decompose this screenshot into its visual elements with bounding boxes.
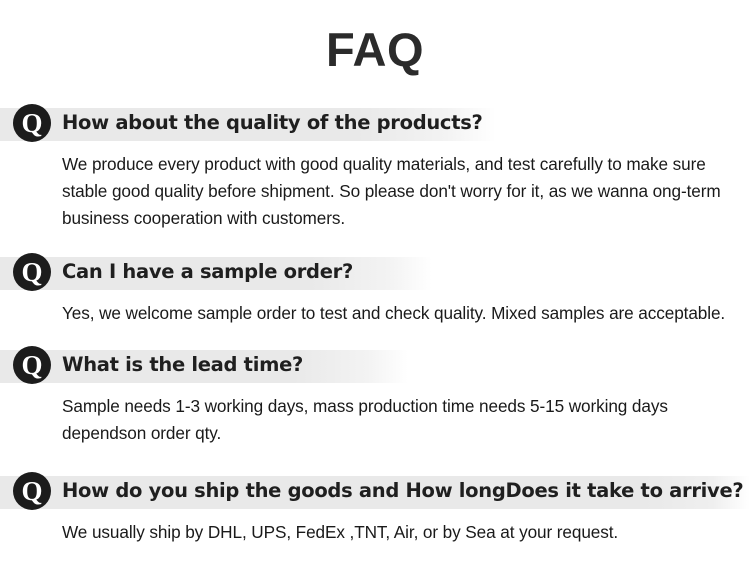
question-label-3: What is the lead time?	[62, 352, 744, 378]
faq-item-3: Q What is the lead time? Sample needs 1-…	[0, 345, 750, 447]
faq-item-2: Q Can I have a sample order? Yes, we wel…	[0, 252, 750, 327]
question-row-3[interactable]: Q What is the lead time?	[0, 345, 750, 383]
question-row-1[interactable]: Q How about the quality of the products?	[0, 103, 750, 141]
question-badge-icon-4: Q	[13, 472, 51, 510]
question-badge-icon-1: Q	[13, 104, 51, 142]
question-label-4: How do you ship the goods and How longDo…	[62, 478, 744, 504]
faq-item-1: Q How about the quality of the products?…	[0, 103, 750, 232]
answer-text-4: We usually ship by DHL, UPS, FedEx ,TNT,…	[0, 509, 750, 546]
answer-text-3: Sample needs 1-3 working days, mass prod…	[0, 383, 750, 447]
faq-list: Q How about the quality of the products?…	[0, 103, 750, 546]
faq-page: FAQ Q How about the quality of the produ…	[0, 0, 750, 584]
faq-item-4: Q How do you ship the goods and How long…	[0, 471, 750, 546]
question-label-1: How about the quality of the products?	[62, 110, 744, 136]
question-row-4[interactable]: Q How do you ship the goods and How long…	[0, 471, 750, 509]
faq-spacer-2	[0, 327, 750, 345]
faq-spacer-3	[0, 447, 750, 471]
question-label-2: Can I have a sample order?	[62, 259, 744, 285]
question-row-2[interactable]: Q Can I have a sample order?	[0, 252, 750, 290]
page-title: FAQ	[0, 26, 750, 73]
question-badge-icon-2: Q	[13, 253, 51, 291]
question-badge-icon-3: Q	[13, 346, 51, 384]
answer-text-1: We produce every product with good quali…	[0, 141, 750, 232]
answer-text-2: Yes, we welcome sample order to test and…	[0, 290, 750, 327]
faq-spacer-1	[0, 232, 750, 252]
